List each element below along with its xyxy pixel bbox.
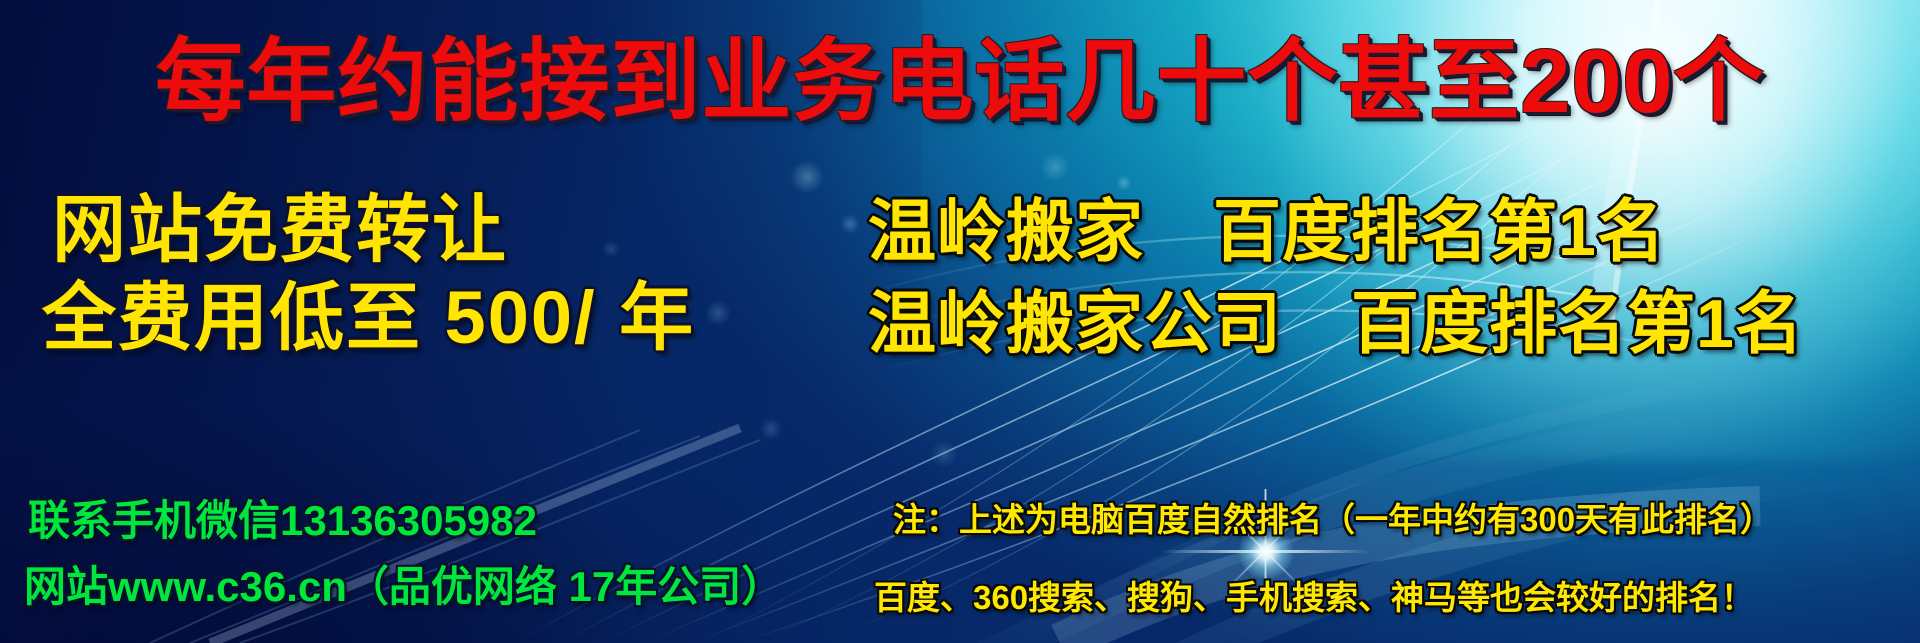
ranking-line-moving: 温岭搬家 百度排名第1名 xyxy=(868,176,1666,275)
offer-line-price: 全费用低至 500/ 年 xyxy=(42,258,695,365)
contact-website-link[interactable]: 网站www.c36.cn（品优网络 17年公司） xyxy=(24,553,783,614)
ranking-line-moving-company: 温岭搬家公司 百度排名第1名 xyxy=(868,268,1804,367)
headline-text: 每年约能接到业务电话几十个甚至200个 xyxy=(0,8,1920,138)
note-line-natural-ranking: 注：上述为电脑百度自然排名（一年中约有300天有此排名） xyxy=(893,493,1773,541)
note-line-other-engines: 百度、360搜索、搜狗、手机搜索、神马等也会较好的排名！ xyxy=(874,571,1754,619)
text-layer: 每年约能接到业务电话几十个甚至200个 网站免费转让 全费用低至 500/ 年 … xyxy=(0,0,1920,643)
promo-banner: 每年约能接到业务电话几十个甚至200个 网站免费转让 全费用低至 500/ 年 … xyxy=(0,0,1920,643)
contact-phone-wechat[interactable]: 联系手机微信13136305982 xyxy=(28,487,537,548)
